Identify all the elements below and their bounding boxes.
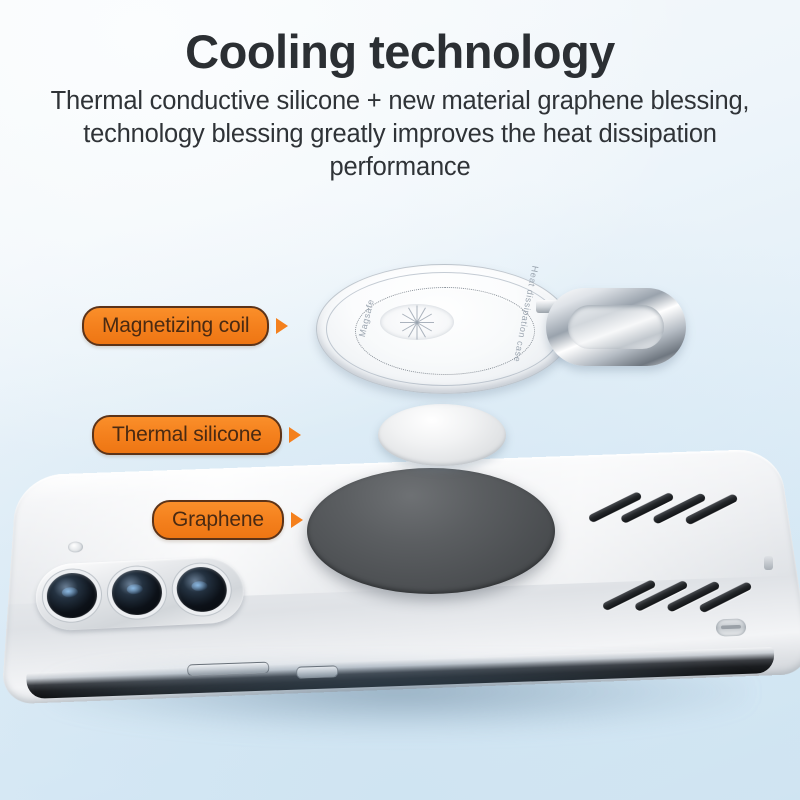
graphene-disc [307, 468, 555, 594]
phone-drop-shadow [48, 664, 748, 734]
callout-label: Magnetizing coil [82, 306, 269, 346]
speaker-port-icon [716, 618, 747, 636]
header-block: Cooling technology Thermal conductive si… [0, 26, 800, 184]
finger-ring-loop [546, 288, 686, 366]
callout-label: Thermal silicone [92, 415, 282, 455]
thermal-silicone-disc [378, 404, 506, 466]
magsafe-ring-holder: Magsafe Heat dissipation case [300, 252, 700, 402]
camera-lens [47, 572, 98, 619]
page-title: Cooling technology [0, 26, 800, 79]
callout-graphene[interactable]: Graphene [152, 500, 303, 540]
product-feature-graphic: Cooling technology Thermal conductive si… [0, 0, 800, 800]
camera-lens [175, 566, 229, 613]
fan-icon [380, 304, 454, 340]
camera-lens [111, 569, 163, 616]
magsafe-coil-plate: Magsafe Heat dissipation case [316, 264, 572, 394]
triangle-right-icon [276, 318, 288, 334]
callout-magnetizing-coil[interactable]: Magnetizing coil [82, 306, 288, 346]
callout-label: Graphene [152, 500, 284, 540]
callout-thermal-silicone[interactable]: Thermal silicone [92, 415, 301, 455]
triangle-right-icon [289, 427, 301, 443]
side-notch [764, 556, 773, 570]
page-subtitle: Thermal conductive silicone + new materi… [47, 85, 753, 184]
camera-module [36, 556, 248, 632]
triangle-right-icon [291, 512, 303, 528]
